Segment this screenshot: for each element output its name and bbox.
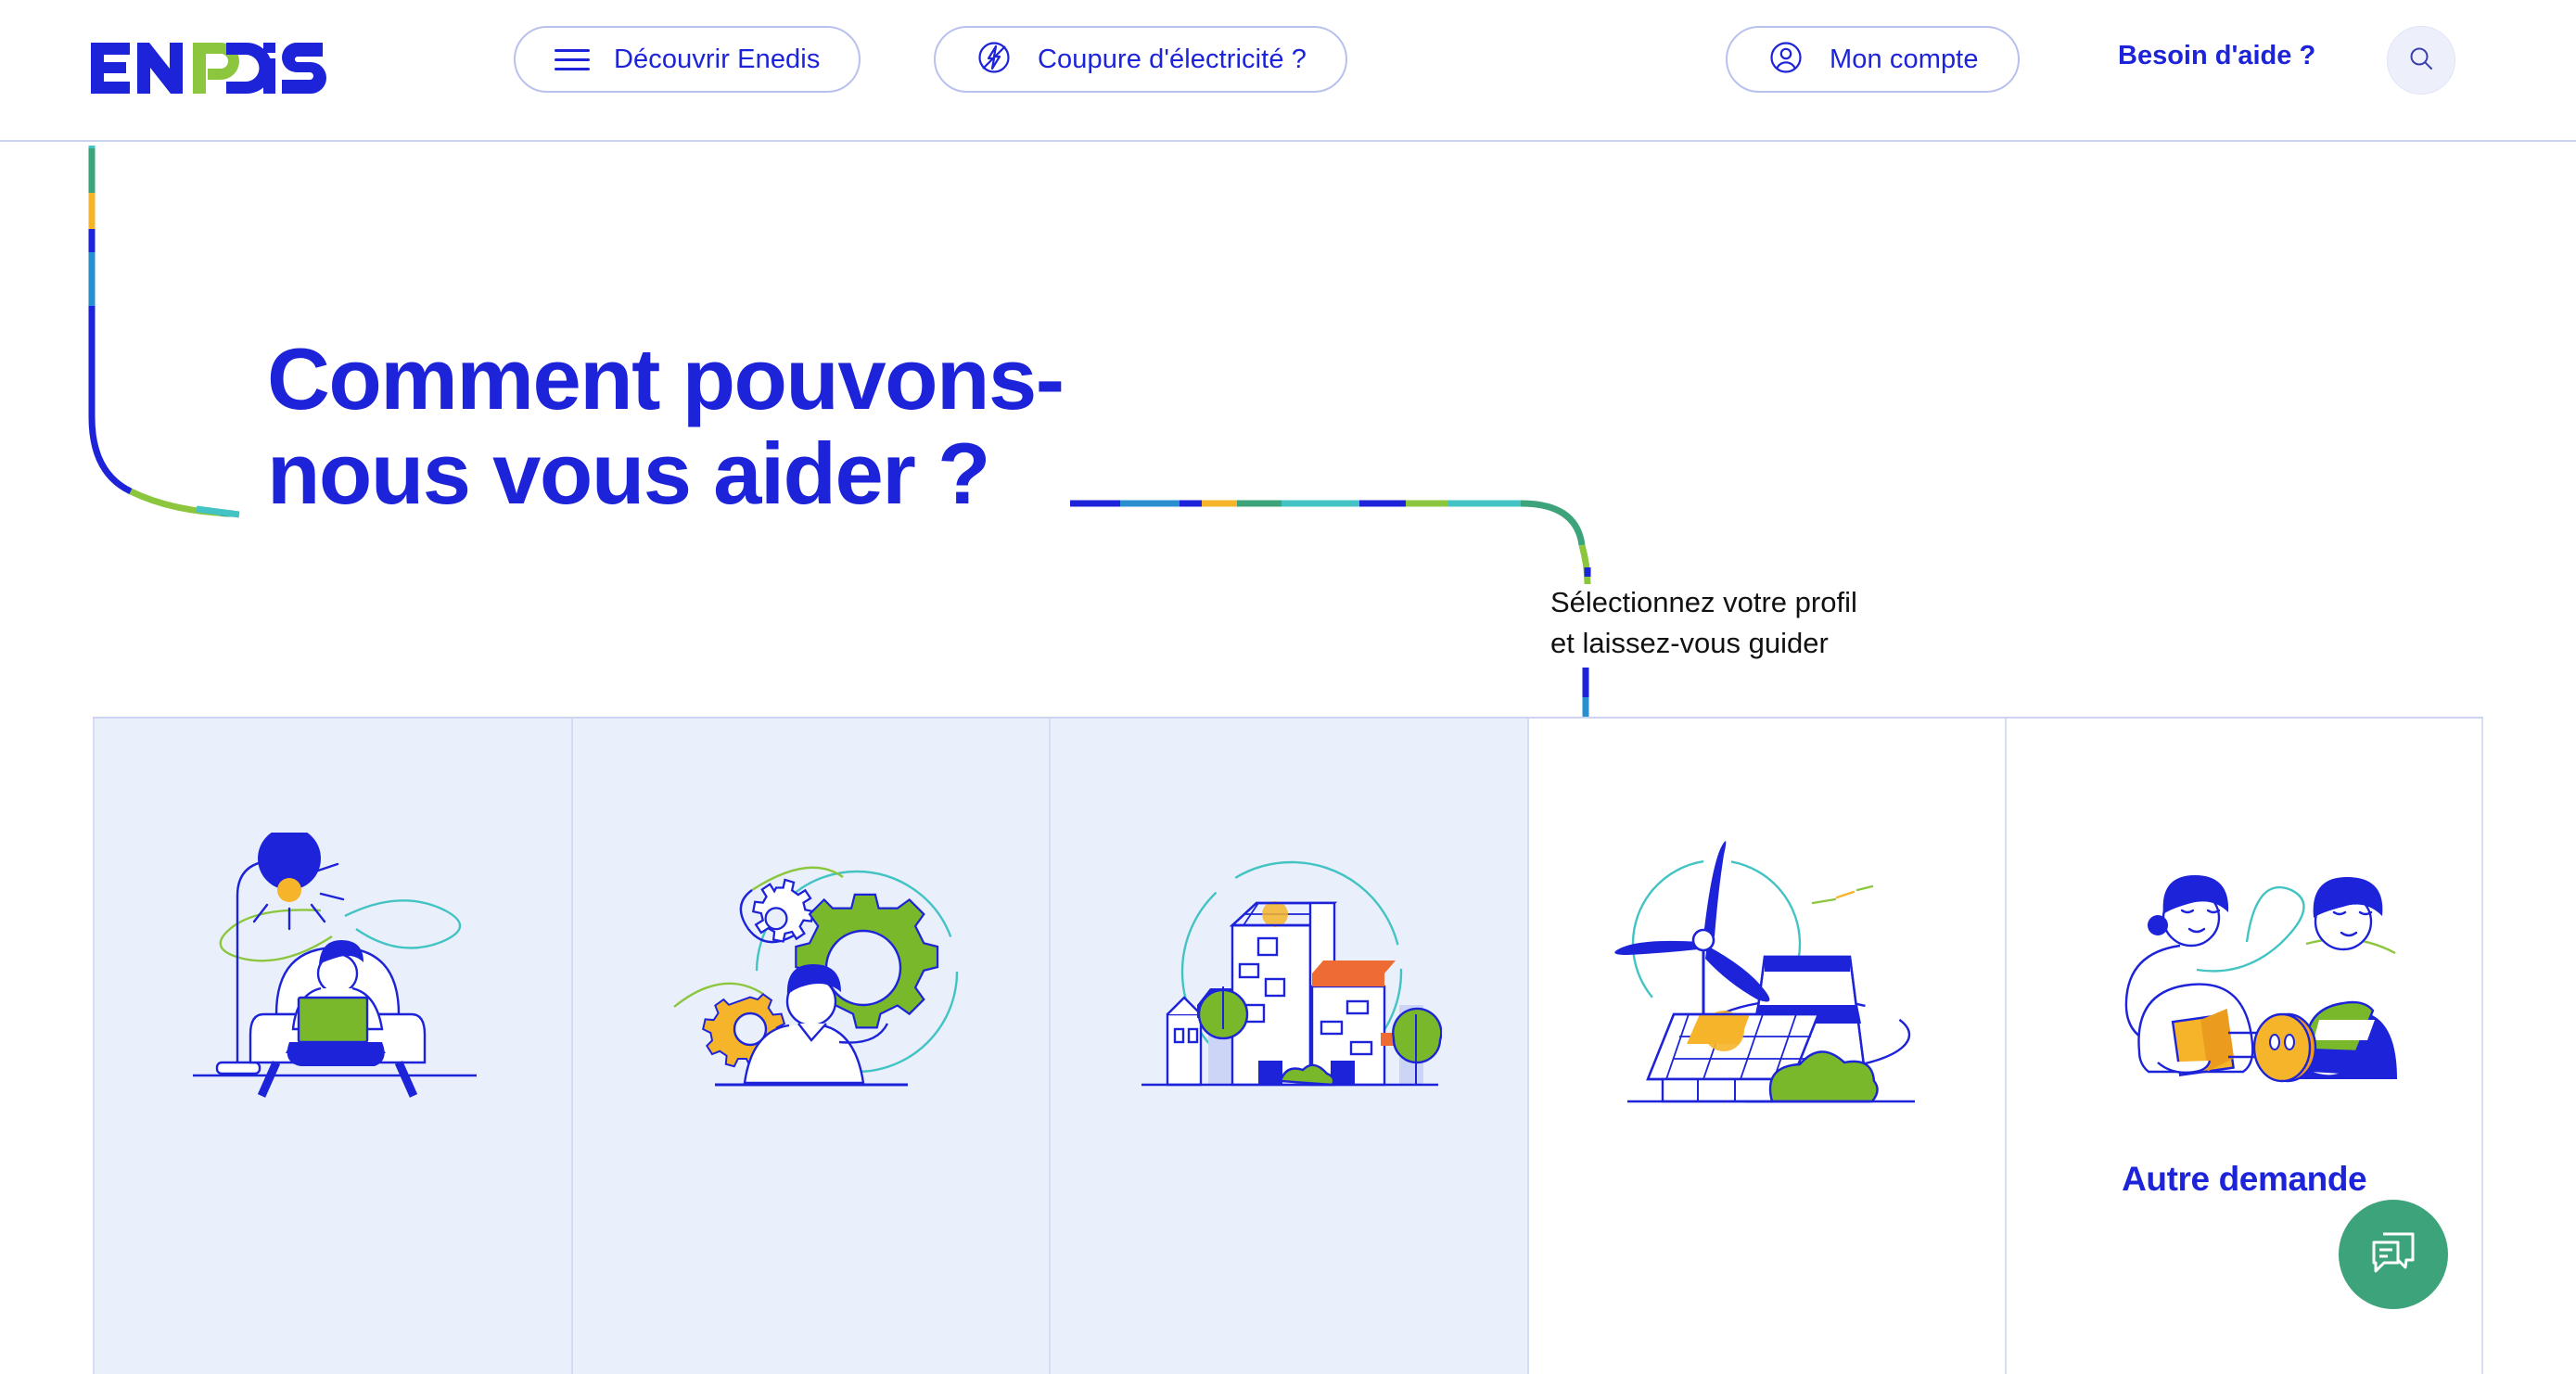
- enedis-logo[interactable]: [89, 39, 330, 95]
- nav-power-outage-button[interactable]: Coupure d'électricité ?: [934, 26, 1347, 93]
- nav-discover-enedis-label: Découvrir Enedis: [614, 45, 820, 75]
- bolt-off-icon: [975, 38, 1014, 82]
- nav-power-outage-label: Coupure d'électricité ?: [1038, 45, 1307, 75]
- nav-need-help-link[interactable]: Besoin d'aide ?: [2118, 41, 2315, 71]
- profile-card-label: Autre demande: [2122, 1160, 2366, 1199]
- search-icon: [2406, 44, 2436, 78]
- search-button[interactable]: [2387, 26, 2455, 95]
- user-circle-icon: [1766, 38, 1805, 82]
- site-header: Découvrir Enedis Coupure d'électricité ?…: [0, 0, 2576, 142]
- nav-my-account-button[interactable]: Mon compte: [1726, 26, 2020, 93]
- profile-card-list: Autre demande: [93, 717, 2483, 1372]
- person-in-armchair-with-laptop-illustration: [180, 837, 486, 1106]
- person-with-gears-illustration: [657, 837, 963, 1106]
- profile-card-producteur[interactable]: [1527, 719, 2006, 1374]
- two-people-plug-and-socket-illustration: [2091, 837, 2397, 1106]
- city-buildings-with-trees-illustration: [1136, 837, 1442, 1106]
- page-title: Comment pouvons- nous vous aider ?: [267, 332, 1064, 522]
- nav-my-account-label: Mon compte: [1830, 45, 1979, 75]
- hero-subtitle: Sélectionnez votre profil et laissez-vou…: [1550, 582, 1857, 664]
- profile-card-professionnel[interactable]: [571, 719, 1050, 1374]
- chat-support-button[interactable]: [2339, 1200, 2448, 1309]
- chat-bubbles-icon: [2366, 1226, 2420, 1284]
- profile-card-collectivite[interactable]: [1049, 719, 1527, 1374]
- wind-turbine-solar-cooling-tower-illustration: [1614, 837, 1920, 1106]
- profile-card-particulier[interactable]: [93, 719, 571, 1374]
- hamburger-menu-icon: [555, 49, 590, 70]
- nav-discover-enedis-button[interactable]: Découvrir Enedis: [514, 26, 861, 93]
